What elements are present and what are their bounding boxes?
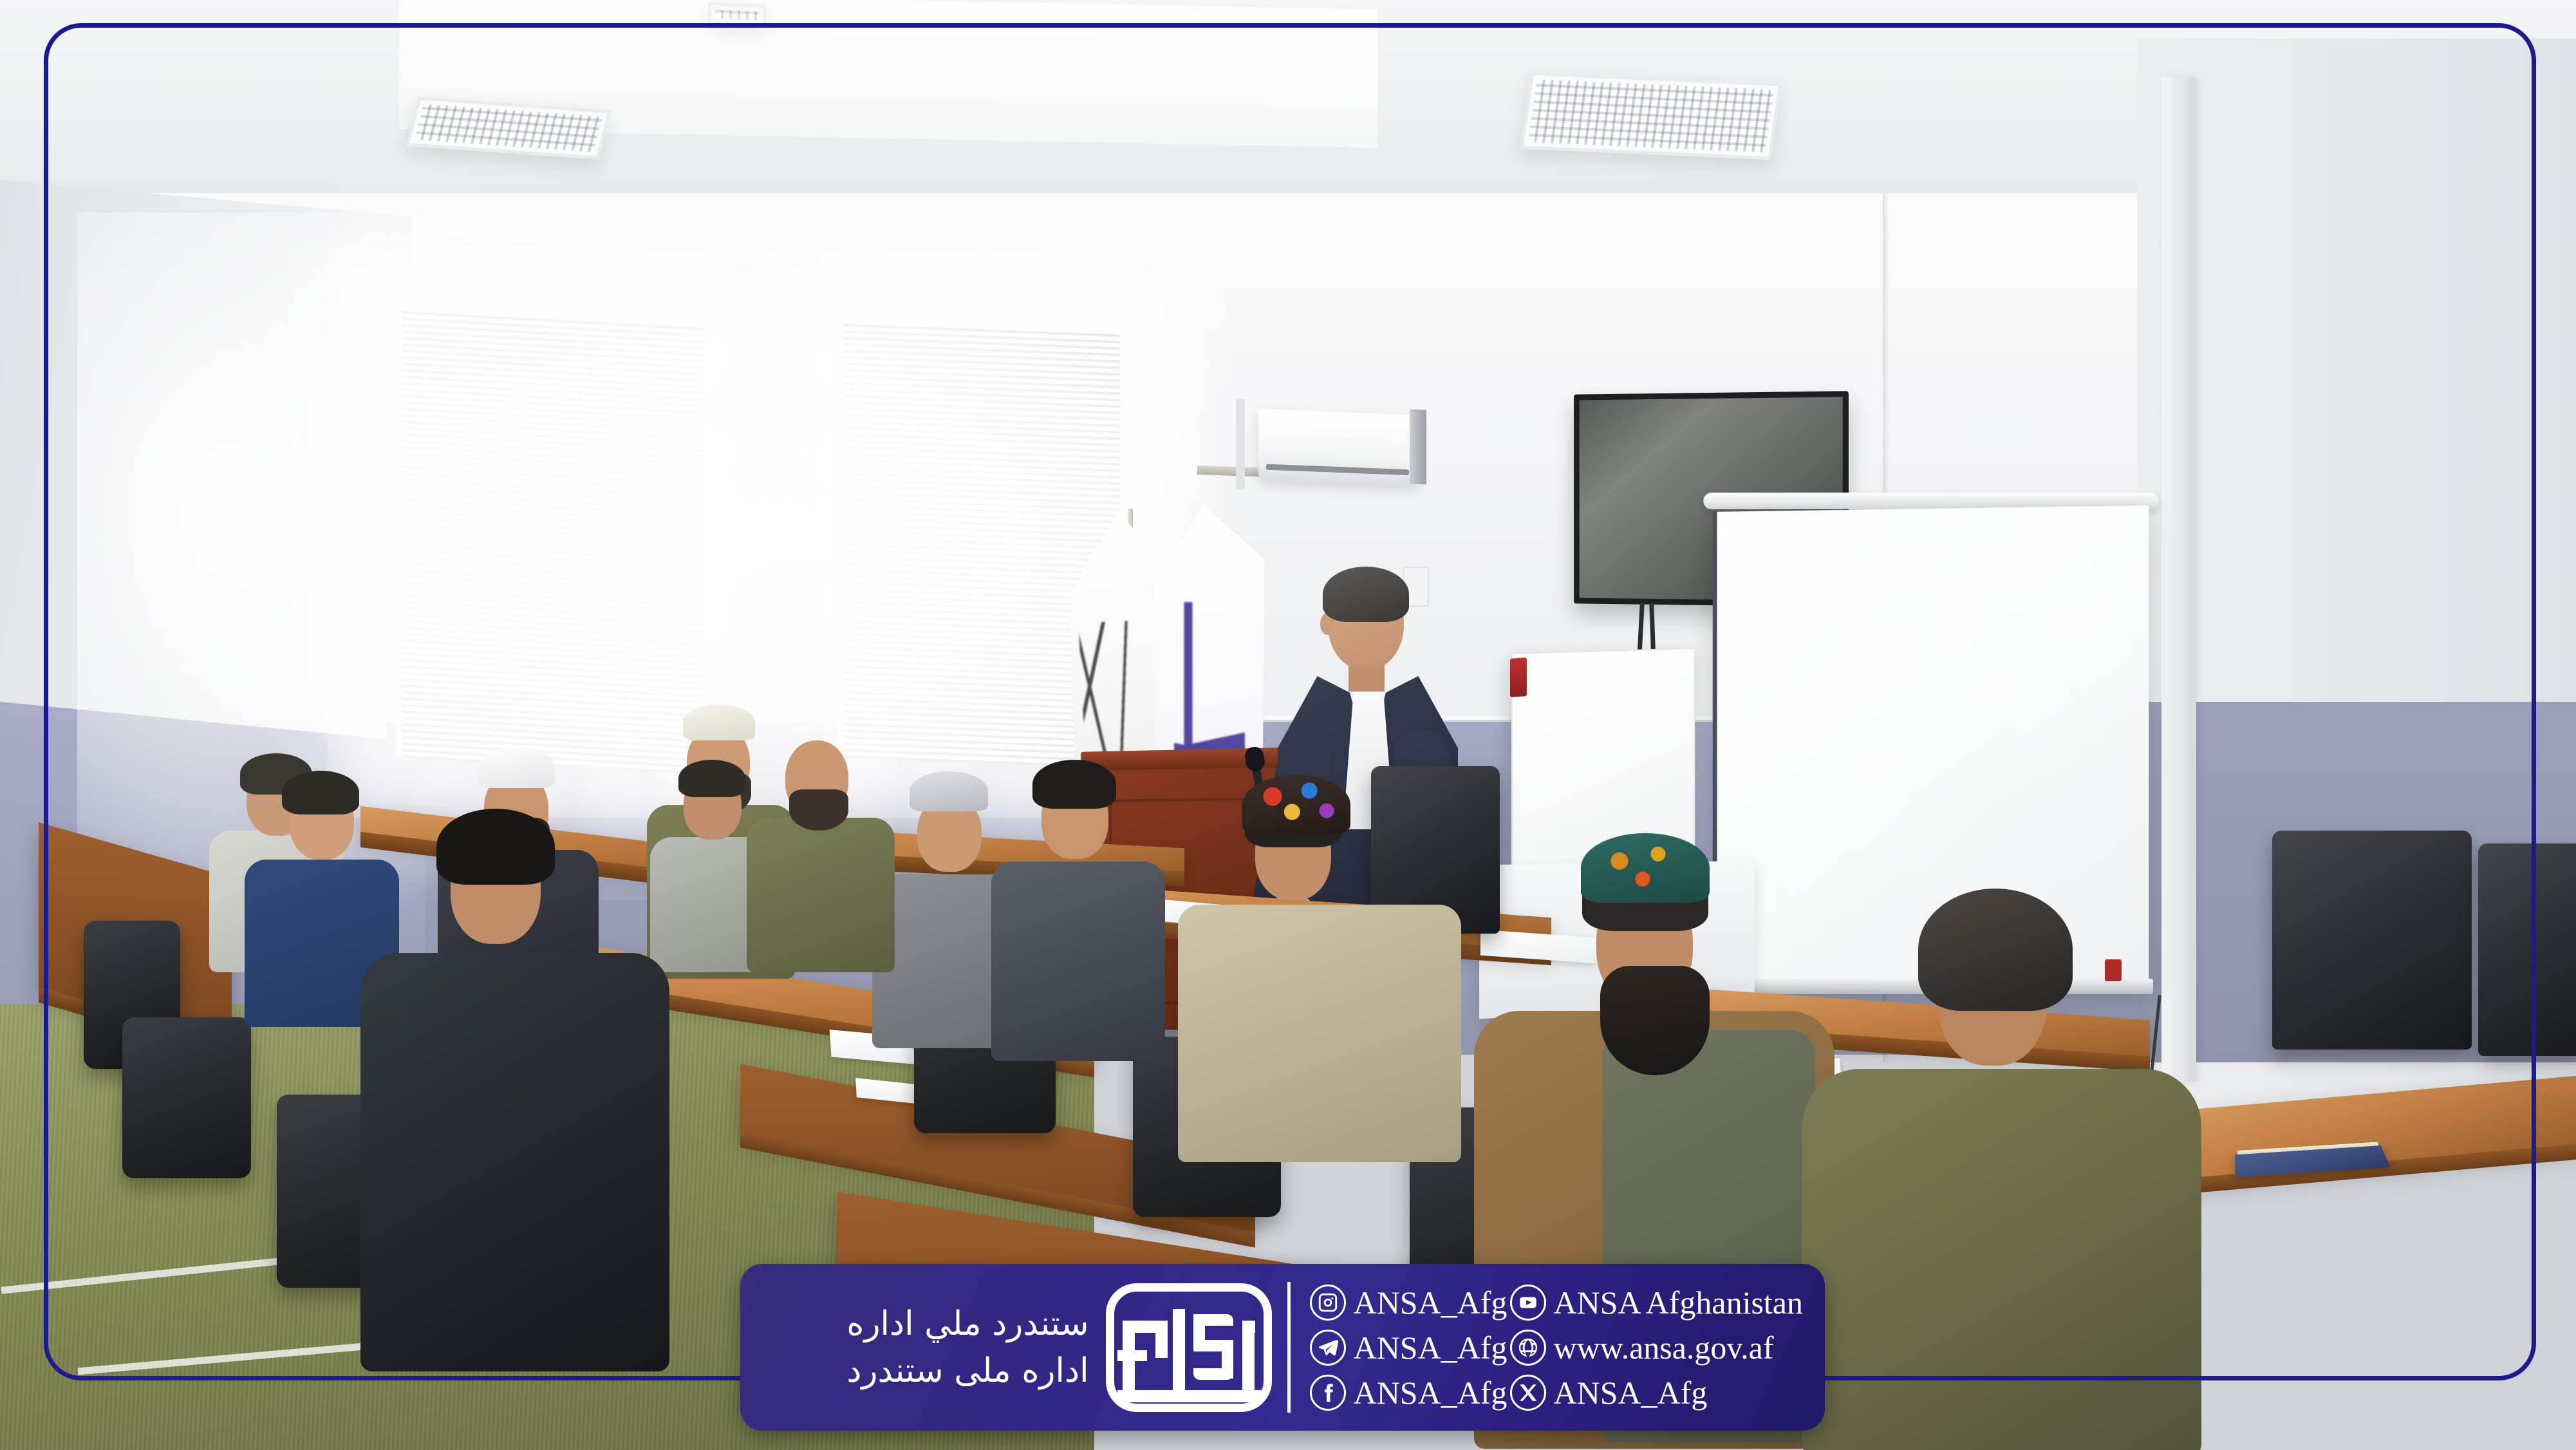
telegram-handle: ANSA_Afg — [1354, 1332, 1507, 1364]
ac-bracket — [1236, 399, 1245, 489]
office-chair — [2272, 831, 2472, 1050]
facebook-handle: ANSA_Afg — [1354, 1377, 1507, 1409]
globe-icon — [1510, 1330, 1546, 1366]
ac-side-panel — [1410, 410, 1426, 485]
social-facebook[interactable]: ANSA_Afg — [1310, 1375, 1507, 1411]
social-website[interactable]: www.ansa.gov.af — [1510, 1330, 1774, 1366]
conference-room-photo — [0, 0, 2576, 1450]
photo-screenshot: ستندرد ملي اداره اداره ملی ستندرد — [0, 0, 2576, 1450]
social-youtube[interactable]: ANSA Afghanistan — [1510, 1285, 1804, 1321]
flipchart-clip — [1510, 657, 1527, 697]
logo-glyphs — [1123, 1303, 1255, 1394]
facebook-icon — [1310, 1375, 1346, 1411]
x-twitter-icon — [1510, 1375, 1546, 1411]
ceiling-grid-light — [1520, 72, 1782, 160]
attendee — [747, 721, 895, 966]
social-row: ANSA_Afg ANSA_Afg — [1310, 1375, 1803, 1411]
social-media-block: ANSA_Afg ANSA Afghanistan ANSA_Afg — [1291, 1264, 1825, 1431]
attendee — [360, 792, 669, 1371]
social-telegram[interactable]: ANSA_Afg — [1310, 1330, 1507, 1366]
stacking-chair — [122, 1017, 251, 1178]
office-chair — [2478, 843, 2576, 1056]
air-conditioner-unit — [1258, 409, 1419, 486]
banner-identity-block: ستندرد ملي اداره اداره ملی ستندرد — [740, 1264, 1287, 1431]
attendee — [991, 747, 1165, 1056]
social-row: ANSA_Afg ANSA Afghanistan — [1310, 1285, 1803, 1321]
attendee — [1802, 856, 2201, 1449]
website-url: www.ansa.gov.af — [1554, 1332, 1774, 1364]
organization-names: ستندرد ملي اداره اداره ملی ستندرد — [846, 1306, 1088, 1388]
embroidered-cap — [1242, 775, 1350, 834]
youtube-icon — [1510, 1285, 1546, 1321]
org-name-pashto: ستندرد ملي اداره — [846, 1306, 1088, 1342]
social-x[interactable]: ANSA_Afg — [1510, 1375, 1708, 1411]
social-instagram[interactable]: ANSA_Afg — [1310, 1285, 1507, 1321]
attendee — [1178, 766, 1461, 1159]
youtube-handle: ANSA Afghanistan — [1554, 1286, 1804, 1319]
ansa-logo — [1106, 1283, 1272, 1412]
org-name-dari: اداره ملی ستندرد — [846, 1353, 1088, 1389]
ansa-branding-banner: ستندرد ملي اداره اداره ملی ستندرد — [740, 1264, 1825, 1431]
instagram-handle: ANSA_Afg — [1354, 1286, 1507, 1319]
embroidered-cap — [1581, 833, 1710, 903]
x-handle: ANSA_Afg — [1554, 1377, 1708, 1409]
instagram-icon — [1310, 1285, 1346, 1321]
telegram-icon — [1310, 1330, 1346, 1366]
social-row: ANSA_Afg www.ansa.gov.af — [1310, 1330, 1803, 1366]
ceiling-grid-light — [708, 2, 766, 28]
